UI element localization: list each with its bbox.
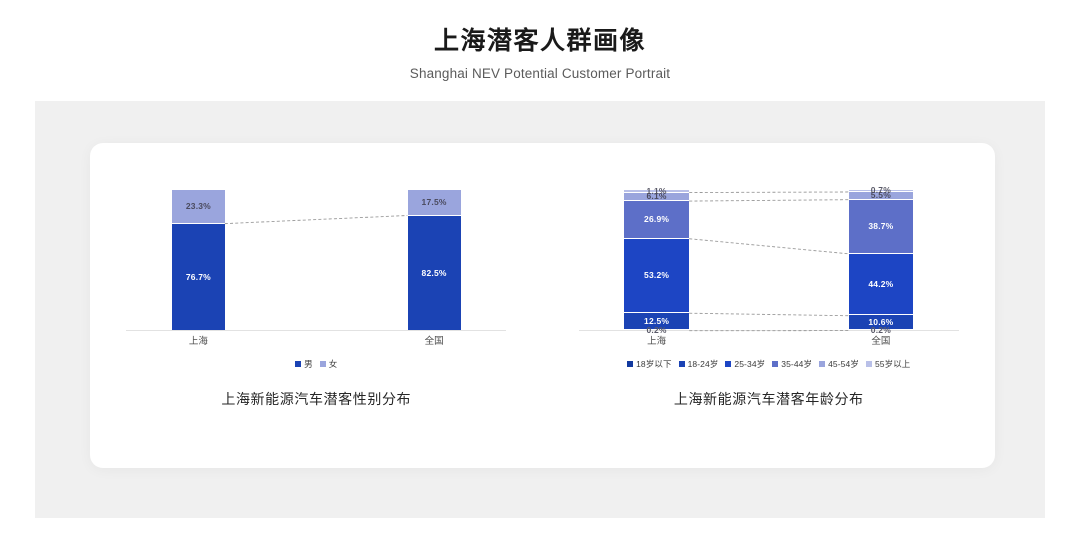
legend-label: 女 bbox=[329, 358, 338, 370]
page-header: 上海潜客人群画像 Shanghai NEV Potential Customer… bbox=[0, 0, 1080, 81]
bar-segment[interactable]: 53.2% bbox=[624, 238, 689, 312]
chart-gender: 23.3%76.7%17.5%82.5%上海全国男女上海新能源汽车潜客性别分布 bbox=[90, 143, 543, 468]
bar-segment-label: 53.2% bbox=[644, 271, 669, 280]
bar-segment-label: 44.2% bbox=[868, 280, 893, 289]
legend-item[interactable]: 18-24岁 bbox=[679, 358, 719, 370]
x-axis-line bbox=[126, 330, 506, 331]
legend-item[interactable]: 女 bbox=[320, 358, 338, 370]
slide-page: 上海潜客人群画像 Shanghai NEV Potential Customer… bbox=[0, 0, 1080, 547]
x-axis-label: 上海 bbox=[647, 333, 666, 347]
bar-segment[interactable]: 44.2% bbox=[849, 253, 914, 315]
bar-segment-label: 5.5% bbox=[871, 191, 891, 200]
legend-item[interactable]: 55岁以上 bbox=[866, 358, 910, 370]
legend-item[interactable]: 男 bbox=[295, 358, 313, 370]
bar-age-上海[interactable]: 1.1%6.1%26.9%53.2%12.5%0.2% bbox=[624, 190, 689, 330]
legend-label: 25-34岁 bbox=[734, 358, 765, 370]
chart-caption-gender: 上海新能源汽车潜客性别分布 bbox=[90, 389, 543, 409]
legend-item[interactable]: 25-34岁 bbox=[725, 358, 765, 370]
legend-item[interactable]: 35-44岁 bbox=[772, 358, 812, 370]
legend-label: 18-24岁 bbox=[688, 358, 719, 370]
chart-caption-age: 上海新能源汽车潜客年龄分布 bbox=[543, 389, 996, 409]
legend-label: 18岁以下 bbox=[636, 358, 671, 370]
bar-gender-全国[interactable]: 17.5%82.5% bbox=[408, 190, 461, 330]
legend-swatch-icon bbox=[320, 361, 326, 367]
charts-card: 23.3%76.7%17.5%82.5%上海全国男女上海新能源汽车潜客性别分布1… bbox=[90, 143, 995, 468]
bar-segment[interactable]: 38.7% bbox=[849, 199, 914, 253]
x-axis-label: 全国 bbox=[871, 333, 890, 347]
legend-swatch-icon bbox=[627, 361, 633, 367]
bar-segment-label: 76.7% bbox=[186, 273, 211, 282]
plot-area-gender: 23.3%76.7%17.5%82.5% bbox=[126, 191, 506, 331]
page-title: 上海潜客人群画像 bbox=[0, 26, 1080, 57]
x-axis-label: 全国 bbox=[425, 333, 444, 347]
bar-segment-label: 0.2% bbox=[647, 326, 667, 335]
x-axis-line bbox=[579, 330, 959, 331]
legend-item[interactable]: 45-54岁 bbox=[819, 358, 859, 370]
legend-label: 35-44岁 bbox=[781, 358, 812, 370]
bar-segment[interactable]: 76.7% bbox=[172, 223, 225, 330]
bar-segment[interactable]: 82.5% bbox=[408, 215, 461, 331]
legend-gender: 男女 bbox=[90, 358, 543, 370]
plot-area-age: 1.1%6.1%26.9%53.2%12.5%0.2%0.7%5.5%38.7%… bbox=[579, 191, 959, 331]
x-axis-labels: 上海全国 bbox=[126, 333, 506, 349]
bar-segment-label: 6.1% bbox=[647, 192, 667, 201]
legend-swatch-icon bbox=[679, 361, 685, 367]
bar-segment[interactable]: 17.5% bbox=[408, 190, 461, 215]
legend-label: 45-54岁 bbox=[828, 358, 859, 370]
bar-segment[interactable]: 5.5% bbox=[849, 191, 914, 199]
x-axis-label: 上海 bbox=[189, 333, 208, 347]
legend-swatch-icon bbox=[772, 361, 778, 367]
legend-swatch-icon bbox=[725, 361, 731, 367]
bar-segment[interactable]: 26.9% bbox=[624, 200, 689, 237]
x-axis-labels: 上海全国 bbox=[579, 333, 959, 349]
chart-age: 1.1%6.1%26.9%53.2%12.5%0.2%0.7%5.5%38.7%… bbox=[543, 143, 996, 468]
charts-row: 23.3%76.7%17.5%82.5%上海全国男女上海新能源汽车潜客性别分布1… bbox=[90, 143, 995, 468]
bar-segment-label: 26.9% bbox=[644, 215, 669, 224]
legend-label: 男 bbox=[304, 358, 313, 370]
bar-segment[interactable]: 6.1% bbox=[624, 192, 689, 201]
bar-gender-上海[interactable]: 23.3%76.7% bbox=[172, 190, 225, 330]
legend-swatch-icon bbox=[819, 361, 825, 367]
bar-segment-label: 12.5% bbox=[644, 317, 669, 326]
legend-swatch-icon bbox=[295, 361, 301, 367]
legend-age: 18岁以下18-24岁25-34岁35-44岁45-54岁55岁以上 bbox=[543, 358, 996, 370]
page-subtitle: Shanghai NEV Potential Customer Portrait bbox=[0, 66, 1080, 81]
legend-item[interactable]: 18岁以下 bbox=[627, 358, 671, 370]
bar-segment-label: 0.2% bbox=[871, 326, 891, 335]
bar-age-全国[interactable]: 0.7%5.5%38.7%44.2%10.6%0.2% bbox=[849, 190, 914, 330]
bar-segment-label: 23.3% bbox=[186, 202, 211, 211]
bar-segment-label: 38.7% bbox=[868, 222, 893, 231]
bar-segment-label: 82.5% bbox=[422, 269, 447, 278]
legend-label: 55岁以上 bbox=[875, 358, 910, 370]
legend-swatch-icon bbox=[866, 361, 872, 367]
bar-segment-label: 17.5% bbox=[422, 198, 447, 207]
bar-segment[interactable]: 23.3% bbox=[172, 190, 225, 223]
